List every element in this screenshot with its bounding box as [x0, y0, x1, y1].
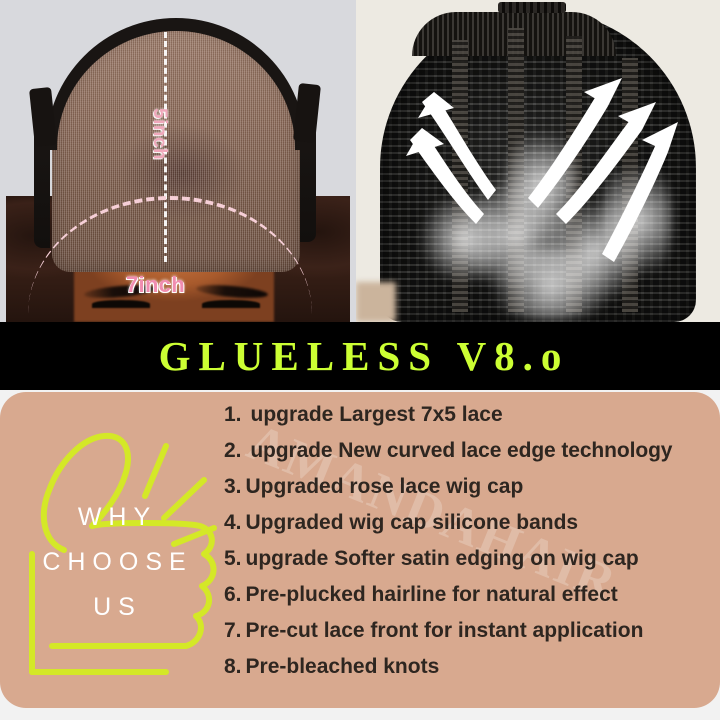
feature-text: upgrade New curved lace edge technology — [250, 439, 672, 462]
list-item: 7.Pre-cut lace front for instant applica… — [224, 620, 720, 641]
list-item: 4.Upgraded wig cap silicone bands — [224, 512, 720, 533]
feature-text: Upgraded wig cap silicone bands — [246, 511, 579, 534]
feature-text: Pre-cut lace front for instant applicati… — [246, 619, 644, 642]
measure-label-vertical: 5inch — [148, 108, 170, 160]
wig-cap-breathability-photo — [356, 0, 720, 322]
product-poster: 5inch 7inch — [0, 0, 720, 720]
list-item: 1.upgrade Largest 7x5 lace — [224, 404, 720, 425]
feature-number: 1. — [224, 403, 242, 426]
feature-text: upgrade Largest 7x5 lace — [251, 403, 503, 426]
feature-number: 4. — [224, 511, 242, 534]
list-item: 6.Pre-plucked hairline for natural effec… — [224, 584, 720, 605]
feature-text: upgrade Softer satin edging on wig cap — [246, 547, 639, 570]
cap-comb-tab-left — [29, 87, 57, 147]
features-panel: AMANDAHAIR WHY CHOOSE US 1.upgrade Large… — [0, 392, 720, 708]
feature-number: 3. — [224, 475, 242, 498]
feature-text: Pre-plucked hairline for natural effect — [246, 583, 618, 606]
photo-row: 5inch 7inch — [0, 0, 720, 322]
airflow-arrows-icon — [356, 0, 720, 322]
why-line-2: CHOOSE — [35, 548, 192, 577]
feature-text: Upgraded rose lace wig cap — [246, 475, 524, 498]
cap-comb-tab-right — [293, 83, 321, 143]
feature-number: 7. — [224, 619, 242, 642]
feature-number: 2. — [224, 439, 241, 462]
list-item: 3.Upgraded rose lace wig cap — [224, 476, 720, 497]
feature-number: 5. — [224, 547, 242, 570]
why-line-3: US — [86, 593, 142, 622]
page-title: GLUELESS V8.o — [0, 322, 720, 390]
why-choose-us-heading: WHY CHOOSE US — [8, 428, 220, 696]
wig-cap-measurement-photo: 5inch 7inch — [0, 0, 356, 322]
feature-list: 1.upgrade Largest 7x5 lace 2.upgrade New… — [224, 404, 720, 692]
cap-elastic-band — [46, 18, 306, 150]
feature-text: Pre-bleached knots — [246, 655, 440, 678]
feature-number: 8. — [224, 655, 242, 678]
measure-label-horizontal: 7inch — [126, 272, 185, 298]
feature-number: 6. — [224, 583, 242, 606]
why-line-1: WHY — [71, 503, 157, 532]
list-item: 5.upgrade Softer satin edging on wig cap — [224, 548, 720, 569]
list-item: 8.Pre-bleached knots — [224, 656, 720, 677]
list-item: 2.upgrade New curved lace edge technolog… — [224, 440, 720, 461]
title-band: GLUELESS V8.o — [0, 322, 720, 390]
